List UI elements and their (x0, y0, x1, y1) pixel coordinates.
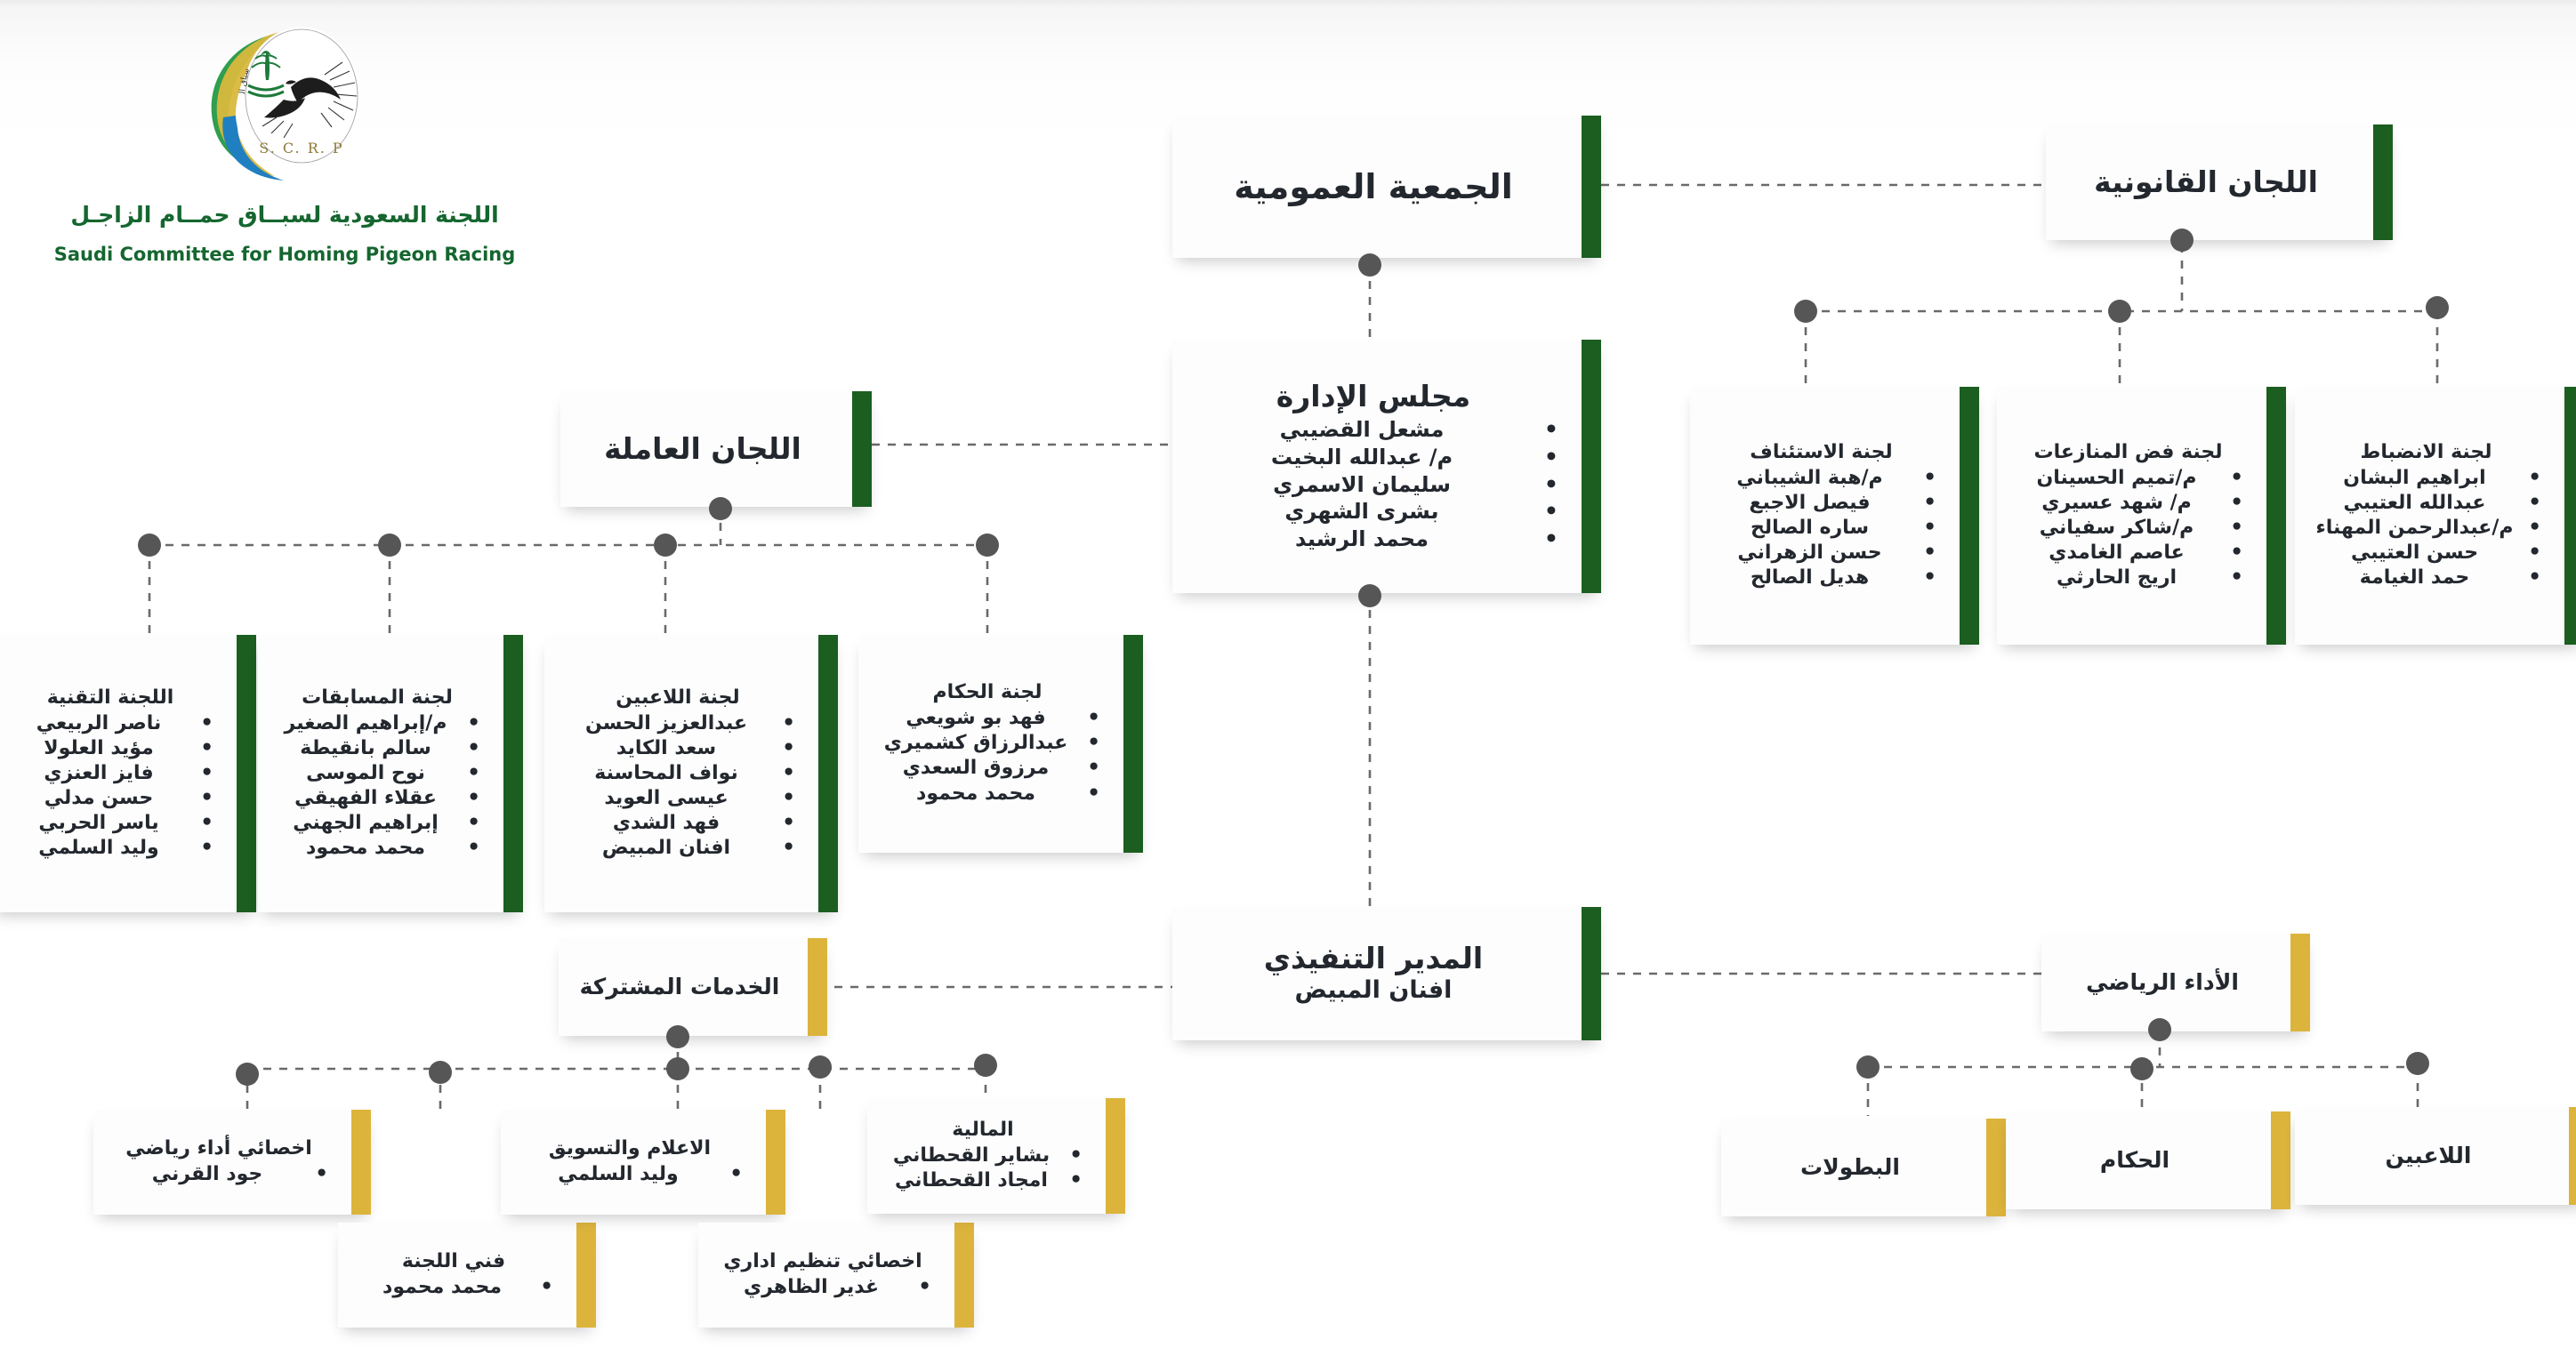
node-title: المالية (881, 1119, 1084, 1142)
member-item: مرزوق السعدي (873, 756, 1083, 781)
connector-dot (378, 534, 401, 557)
connector-dot (976, 534, 999, 557)
node-accent-bar (2290, 934, 2310, 1031)
connector-dot (1856, 1055, 1880, 1079)
node-accent-bar (2271, 1111, 2290, 1209)
organization-logo: سباق الحمام الزاجل S. C. R. P (191, 18, 378, 182)
member-item: فيصل الاجبع (1704, 491, 1919, 516)
member-item: نواف المحاسنة (559, 761, 777, 786)
member-list: م/تميم الحسينانم/ شهد عسيريم/شاكر سفياني… (2011, 466, 2245, 591)
node-accent-bar (818, 635, 838, 912)
member-item: عيسى العويد (559, 786, 777, 811)
node-accent-bar (351, 1110, 371, 1215)
member-item: عاصم الغامدي (2011, 541, 2226, 566)
node-subtitle: افنان المبيض (1187, 976, 1560, 1005)
member-list: م/هبة الشيبانيفيصل الاجبعساره الصالححسن … (1704, 466, 1938, 591)
member-item: غدير الظاهري (712, 1275, 914, 1300)
node-accent-bar (576, 1223, 596, 1328)
node-title: لجنة الاستئناف (1704, 441, 1938, 464)
member-item: نوح الموسى (272, 761, 463, 786)
member-item: م/عبدالرحمن المهناء (2309, 516, 2524, 541)
member-item: مؤيد العلولا (5, 736, 196, 761)
connector-dot (974, 1054, 997, 1077)
node-championships[interactable]: البطولات (1721, 1119, 2006, 1216)
brand-block: سباق الحمام الزاجل S. C. R. P اللجنة الس… (36, 18, 534, 265)
node-board-of-directors[interactable]: مجلس الإدارة مشعل القضيبيم/ عبدالله البخ… (1172, 340, 1601, 593)
connector-dot (2406, 1052, 2429, 1075)
member-item: حسن مدلي (5, 786, 196, 811)
node-referees[interactable]: الحكام (2006, 1111, 2290, 1209)
member-item: م/شاكر سفياني (2011, 516, 2226, 541)
node-sports-performance[interactable]: الأداء الرياضي (2041, 934, 2310, 1031)
member-list: عبدالعزيز الحسنسعد الكايدنواف المحاسنةعي… (559, 711, 797, 862)
member-item: بشاير القحطاني (881, 1143, 1065, 1168)
node-sport-performance-specialist[interactable]: اخصائي أداء رياضي جود القرني (93, 1110, 371, 1215)
node-title: اللجنة التقنية (5, 686, 215, 710)
member-item: افنان المبيض (559, 836, 777, 861)
node-title: اللجان العاملة (575, 432, 831, 467)
member-list: ابراهيم البشانعبدالله العتيبيم/عبدالرحمن… (2309, 466, 2543, 591)
node-accent-bar (2569, 1107, 2576, 1205)
connector-dot (2170, 229, 2194, 252)
node-executive-director[interactable]: المدير التنفيذي افنان المبيض (1172, 907, 1601, 1040)
member-item: سعد الكايد (559, 736, 777, 761)
node-accent-bar (1960, 387, 1979, 645)
node-competitions-committee[interactable]: لجنة المسابقات م/إبراهيم الصغيرسالم بانق… (258, 635, 523, 912)
node-title: اخصائي أداء رياضي (108, 1137, 330, 1160)
node-title: المدير التنفيذي (1187, 942, 1560, 976)
member-item: ساره الصالح (1704, 516, 1919, 541)
member-list: ناصر الربيعيمؤيد العلولافايز العنزيحسن م… (5, 711, 215, 862)
brand-name-arabic: اللجنة السعودية لسبــاق حمــام الزاجـل (36, 202, 534, 228)
member-item: فهد الشدي (559, 811, 777, 836)
member-item: م/ عبدالله البخيت (1187, 444, 1541, 471)
connector-dot (809, 1055, 832, 1079)
member-item: محمد محمود (352, 1275, 535, 1300)
node-title: الحكام (2020, 1147, 2250, 1174)
connector-dot (654, 534, 677, 557)
member-item: حسن الزهراني (1704, 541, 1919, 566)
node-title: لجنة الانضباط (2309, 441, 2543, 464)
node-committee-technician[interactable]: فني اللجنة محمد محمود (338, 1223, 596, 1328)
node-accent-bar (2266, 387, 2286, 645)
node-accent-bar (1582, 340, 1601, 593)
connector-dot (2426, 296, 2449, 319)
node-accent-bar (1986, 1119, 2006, 1216)
node-finance[interactable]: المالية بشاير القحطانيامجاد القحطاني (867, 1098, 1125, 1214)
member-item: وليد السلمي (515, 1162, 725, 1187)
member-item: مشعل القضيبي (1187, 416, 1541, 444)
node-shared-services[interactable]: الخدمات المشتركة (559, 938, 827, 1036)
node-accent-bar (503, 635, 523, 912)
member-item: م/هبة الشيباني (1704, 466, 1919, 491)
node-referees-committee[interactable]: لجنة الحكام فهد بو شويعيعبدالرزاق كشميري… (858, 635, 1143, 853)
member-item: فايز العنزي (5, 761, 196, 786)
node-title: مجلس الإدارة (1187, 380, 1560, 414)
node-accent-bar (1582, 907, 1601, 1040)
member-item: عقلاء الفهيقي (272, 786, 463, 811)
org-chart-canvas: سباق الحمام الزاجل S. C. R. P اللجنة الس… (0, 0, 2576, 1348)
node-title: لجنة الحكام (873, 681, 1102, 704)
connector-dot (2148, 1018, 2171, 1041)
member-item: محمد الرشيد (1187, 526, 1541, 553)
member-item: ناصر الربيعي (5, 711, 196, 736)
node-technical-committee[interactable]: اللجنة التقنية ناصر الربيعيمؤيد العلولاف… (0, 635, 256, 912)
member-list: غدير الظاهري (712, 1275, 933, 1300)
member-item: وليد السلمي (5, 836, 196, 861)
node-accent-bar (1123, 635, 1143, 853)
node-accent-bar (2373, 124, 2393, 240)
connector-dot (666, 1057, 689, 1080)
member-item: هديل الصالح (1704, 566, 1919, 590)
svg-text:S. C. R. P: S. C. R. P (259, 140, 343, 156)
member-item: م/ شهد عسيري (2011, 491, 2226, 516)
brand-name-english: Saudi Committee for Homing Pigeon Racing (36, 244, 534, 265)
node-appeal-committee[interactable]: لجنة الاستئناف م/هبة الشيبانيفيصل الاجبع… (1690, 387, 1979, 645)
member-item: م/تميم الحسينان (2011, 466, 2226, 491)
node-legal-committees[interactable]: اللجان القانونية (2046, 124, 2393, 240)
member-item: إبراهيم الجهني (272, 811, 463, 836)
node-accent-bar (766, 1110, 785, 1215)
member-list: محمد محمود (352, 1275, 555, 1300)
node-accent-bar (237, 635, 256, 912)
member-list: مشعل القضيبيم/ عبدالله البخيتسليمان الاس… (1187, 416, 1560, 553)
node-title: البطولات (1735, 1154, 1965, 1181)
node-title: الجمعية العمومية (1187, 167, 1560, 207)
member-list: فهد بو شويعيعبدالرزاق كشميريمرزوق السعدي… (873, 706, 1102, 806)
member-item: ابراهيم البشان (2309, 466, 2524, 491)
connector-dot (1794, 300, 1817, 323)
node-title: اخصائي تنظيم اداري (712, 1250, 933, 1273)
member-list: جود القرني (108, 1162, 330, 1187)
connector-dot (236, 1063, 259, 1086)
member-item: امجاد القحطاني (881, 1168, 1065, 1193)
node-discipline-committee[interactable]: لجنة الانضباط ابراهيم البشانعبدالله العت… (2295, 387, 2576, 645)
node-media-marketing[interactable]: الاعلام والتسويق وليد السلمي (501, 1110, 785, 1215)
node-working-committees[interactable]: اللجان العاملة (560, 391, 872, 507)
member-item: اريج الحارثي (2011, 566, 2226, 590)
node-title: لجنة فض المنازعات (2011, 441, 2245, 464)
node-players[interactable]: اللاعبين (2295, 1107, 2576, 1205)
member-item: جود القرني (108, 1162, 310, 1187)
member-item: سالم بانقيطة (272, 736, 463, 761)
connector-dot (138, 534, 161, 557)
node-title: اللجان القانونية (2060, 165, 2352, 200)
node-players-committee[interactable]: لجنة اللاعبين عبدالعزيز الحسنسعد الكايدن… (544, 635, 838, 912)
member-item: عبدالعزيز الحسن (559, 711, 777, 736)
node-dispute-committee[interactable]: لجنة فض المنازعات م/تميم الحسينانم/ شهد … (1997, 387, 2286, 645)
node-accent-bar (1106, 1098, 1125, 1214)
node-title: الأداء الرياضي (2056, 969, 2269, 996)
connector-dot (709, 497, 732, 520)
member-list: م/إبراهيم الصغيرسالم بانقيطةنوح الموسىعق… (272, 711, 482, 862)
member-item: محمد محمود (873, 782, 1083, 806)
node-accent-bar (852, 391, 872, 507)
node-accent-bar (1582, 116, 1601, 258)
member-item: بشرى الشهري (1187, 498, 1541, 526)
member-item: فهد بو شويعي (873, 706, 1083, 731)
node-title: لجنة اللاعبين (559, 686, 797, 710)
member-list: بشاير القحطانيامجاد القحطاني (881, 1143, 1084, 1193)
member-item: عبدالرزاق كشميري (873, 731, 1083, 756)
connector-dot (2108, 300, 2131, 323)
node-title: الاعلام والتسويق (515, 1137, 745, 1160)
member-item: م/إبراهيم الصغير (272, 711, 463, 736)
node-title: لجنة المسابقات (272, 686, 482, 710)
member-item: عبدالله العتيبي (2309, 491, 2524, 516)
connector-dot (666, 1025, 689, 1048)
connector-dot (2130, 1057, 2153, 1080)
node-title: فني اللجنة (352, 1250, 555, 1273)
member-list: وليد السلمي (515, 1162, 745, 1187)
node-title: الخدمات المشتركة (573, 974, 786, 1000)
connector-dot (1358, 584, 1381, 607)
member-item: ياسر الحربي (5, 811, 196, 836)
connector-dot (429, 1061, 452, 1084)
node-accent-bar (808, 938, 827, 1036)
member-item: محمد محمود (272, 836, 463, 861)
member-item: سليمان الاسمري (1187, 471, 1541, 499)
member-item: حسن العتيبي (2309, 541, 2524, 566)
node-accent-bar (954, 1223, 974, 1328)
node-accent-bar (2564, 387, 2576, 645)
member-item: حمد الغيامة (2309, 566, 2524, 590)
node-general-assembly[interactable]: الجمعية العمومية (1172, 116, 1601, 258)
node-admin-organization-specialist[interactable]: اخصائي تنظيم اداري غدير الظاهري (698, 1223, 974, 1328)
node-title: اللاعبين (2309, 1143, 2548, 1169)
connector-dot (1358, 253, 1381, 277)
